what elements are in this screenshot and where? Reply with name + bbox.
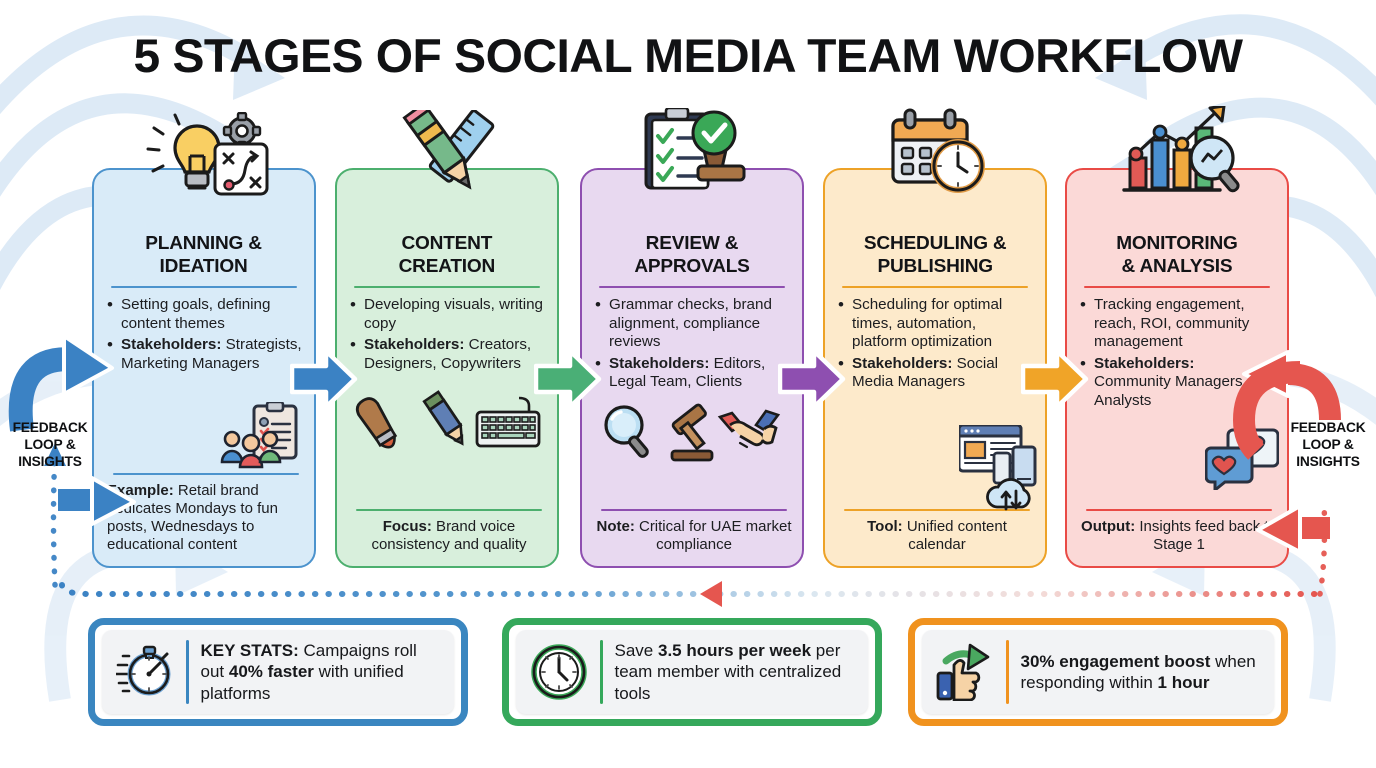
- bullet-item: Setting goals, defining content themes: [106, 296, 302, 333]
- stage-footer: Note: Critical for UAE market compliance: [582, 509, 806, 554]
- connector-arrow-3: [778, 348, 846, 410]
- creation-tool-icons: [349, 390, 545, 452]
- pencil-ruler-icon: [337, 112, 561, 198]
- footer-note: Example: Retail brand dedicates Mondays …: [107, 475, 305, 554]
- stage-title: REVIEW &APPROVALS: [634, 232, 749, 277]
- stage-title: MONITORING& ANALYSIS: [1116, 232, 1237, 277]
- stage-card-content-creation[interactable]: CONTENTCREATION Developing visuals, writ…: [335, 168, 559, 568]
- stage-footer: Output: Insights feed back to Stage 1: [1067, 509, 1291, 554]
- feedback-label-right: FEEDBACK LOOP & INSIGHTS: [1279, 420, 1376, 471]
- lightbulb-gear-strategy-icon: [94, 112, 318, 198]
- stat-box-key-stats[interactable]: KEY STATS: Campaigns roll out 40% faster…: [88, 618, 468, 726]
- cloud-sync-icon: [983, 475, 1037, 520]
- stage-bullets: Developing visuals, writing copy Stakeho…: [349, 296, 545, 376]
- bullet-item: Scheduling for optimal times, automation…: [837, 296, 1033, 352]
- connector-arrow-1: [290, 348, 358, 410]
- title-divider: [111, 286, 297, 288]
- bullet-item: Stakeholders: Creators, Designers, Copyw…: [349, 336, 545, 373]
- feedback-label-left: FEEDBACK LOOP & INSIGHTS: [1, 420, 99, 471]
- stat-box-engagement-boost[interactable]: 30% engagement boost when responding wit…: [908, 618, 1288, 726]
- infographic-root: 5 STAGES OF SOCIAL MEDIA TEAM WORKFLOW: [0, 0, 1376, 768]
- stage-card-monitoring-analysis[interactable]: MONITORING& ANALYSIS Tracking engagement…: [1065, 168, 1289, 568]
- calendar-clock-icon: [825, 112, 1049, 198]
- stage-bullets: Tracking engagement, reach, ROI, communi…: [1079, 296, 1275, 413]
- stat-accent-divider: [600, 640, 603, 704]
- page-title: 5 STAGES OF SOCIAL MEDIA TEAM WORKFLOW: [0, 28, 1376, 83]
- chat-hearts-icon: [1205, 428, 1279, 495]
- bullet-item: Developing visuals, writing copy: [349, 296, 545, 333]
- clock-icon: [530, 641, 588, 703]
- stage-title: PLANNING &IDEATION: [146, 232, 263, 277]
- title-divider: [599, 286, 785, 288]
- bullet-item: Grammar checks, brand alignment, complia…: [594, 296, 790, 352]
- footer-note: Focus: Brand voice consistency and quali…: [350, 511, 548, 554]
- stage-footer: Example: Retail brand dedicates Mondays …: [94, 473, 318, 554]
- stage-card-review-approvals[interactable]: REVIEW &APPROVALS Grammar checks, brand …: [580, 168, 804, 568]
- connector-arrow-2: [534, 348, 602, 410]
- footer-note: Output: Insights feed back to Stage 1: [1080, 511, 1278, 554]
- title-divider: [842, 286, 1028, 288]
- bullet-item: Stakeholders: Community Managers, Analys…: [1079, 355, 1275, 411]
- bullet-item: Stakeholders: Strategists, Marketing Man…: [106, 336, 302, 373]
- analytics-chart-magnifier-icon: [1067, 112, 1291, 198]
- feedback-arrowhead-left: [700, 581, 722, 607]
- stat-accent-divider: [1006, 640, 1009, 704]
- review-tool-icons: [594, 401, 790, 463]
- title-divider: [354, 286, 540, 288]
- stat-text: KEY STATS: Campaigns roll out 40% faster…: [201, 640, 441, 703]
- stat-box-content: KEY STATS: Campaigns roll out 40% faster…: [102, 630, 454, 714]
- stat-text: Save 3.5 hours per week per team member …: [615, 640, 855, 703]
- stage-title: SCHEDULING &PUBLISHING: [864, 232, 1007, 277]
- thumbs-up-arrow-icon: [936, 641, 994, 703]
- stat-text: 30% engagement boost when responding wit…: [1021, 651, 1261, 693]
- bullet-item: Stakeholders: Social Media Managers: [837, 355, 1033, 392]
- stage-bullets: Grammar checks, brand alignment, complia…: [594, 296, 790, 395]
- stage-title: CONTENTCREATION: [399, 232, 495, 277]
- stopwatch-icon: [116, 641, 174, 703]
- stat-box-time-saved[interactable]: Save 3.5 hours per week per team member …: [502, 618, 882, 726]
- bullet-item: Stakeholders: Editors, Legal Team, Clien…: [594, 355, 790, 392]
- stage-bullets: Scheduling for optimal times, automation…: [837, 296, 1033, 395]
- stat-accent-divider: [186, 640, 189, 704]
- stat-box-content: 30% engagement boost when responding wit…: [922, 630, 1274, 714]
- title-divider: [1084, 286, 1270, 288]
- checklist-approval-stamp-icon: [582, 112, 806, 198]
- stage-card-planning-ideation[interactable]: PLANNING &IDEATION Setting goals, defini…: [92, 168, 316, 568]
- stage-card-scheduling-publishing[interactable]: SCHEDULING &PUBLISHING Scheduling for op…: [823, 168, 1047, 568]
- footer-note: Note: Critical for UAE market compliance: [595, 511, 793, 554]
- connector-arrow-4: [1021, 348, 1089, 410]
- bullet-item: Tracking engagement, reach, ROI, communi…: [1079, 296, 1275, 352]
- stage-bullets: Setting goals, defining content themes S…: [106, 296, 302, 376]
- clipboard-team-icons: [220, 402, 306, 475]
- stat-box-content: Save 3.5 hours per week per team member …: [516, 630, 868, 714]
- stage-footer: Focus: Brand voice consistency and quali…: [337, 509, 561, 554]
